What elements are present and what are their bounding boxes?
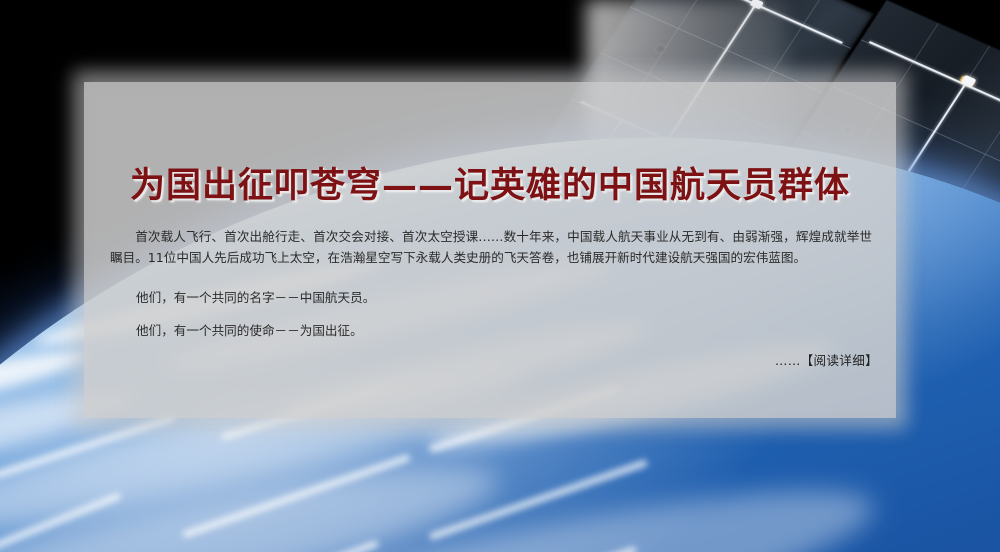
article-paragraph-mission: 他们，有一个共同的使命－－为国出征。 bbox=[110, 320, 872, 341]
paragraph-spacer-2 bbox=[110, 308, 872, 320]
read-more-ellipsis: …… bbox=[775, 353, 801, 368]
article-paragraph-name: 他们，有一个共同的名字－－中国航天员。 bbox=[110, 287, 872, 308]
content-panel-inner: 为国出征叩苍穹——记英雄的中国航天员群体 首次载人飞行、首次出舱行走、首次交会对… bbox=[84, 82, 896, 418]
page-title: 为国出征叩苍穹——记英雄的中国航天员群体 bbox=[84, 157, 896, 208]
article-paragraph-lead: 首次载人飞行、首次出舱行走、首次交会对接、首次太空授课……数十年来，中国载人航天… bbox=[110, 226, 872, 268]
article-body: 首次载人飞行、首次出舱行走、首次交会对接、首次太空授课……数十年来，中国载人航天… bbox=[110, 226, 872, 341]
read-more-row: ……【阅读详细】 bbox=[775, 350, 878, 369]
paragraph-spacer-1 bbox=[110, 268, 872, 287]
page-stage: 为国出征叩苍穹——记英雄的中国航天员群体 首次载人飞行、首次出舱行走、首次交会对… bbox=[0, 0, 1000, 552]
read-more-link[interactable]: 【阅读详细】 bbox=[801, 353, 878, 368]
